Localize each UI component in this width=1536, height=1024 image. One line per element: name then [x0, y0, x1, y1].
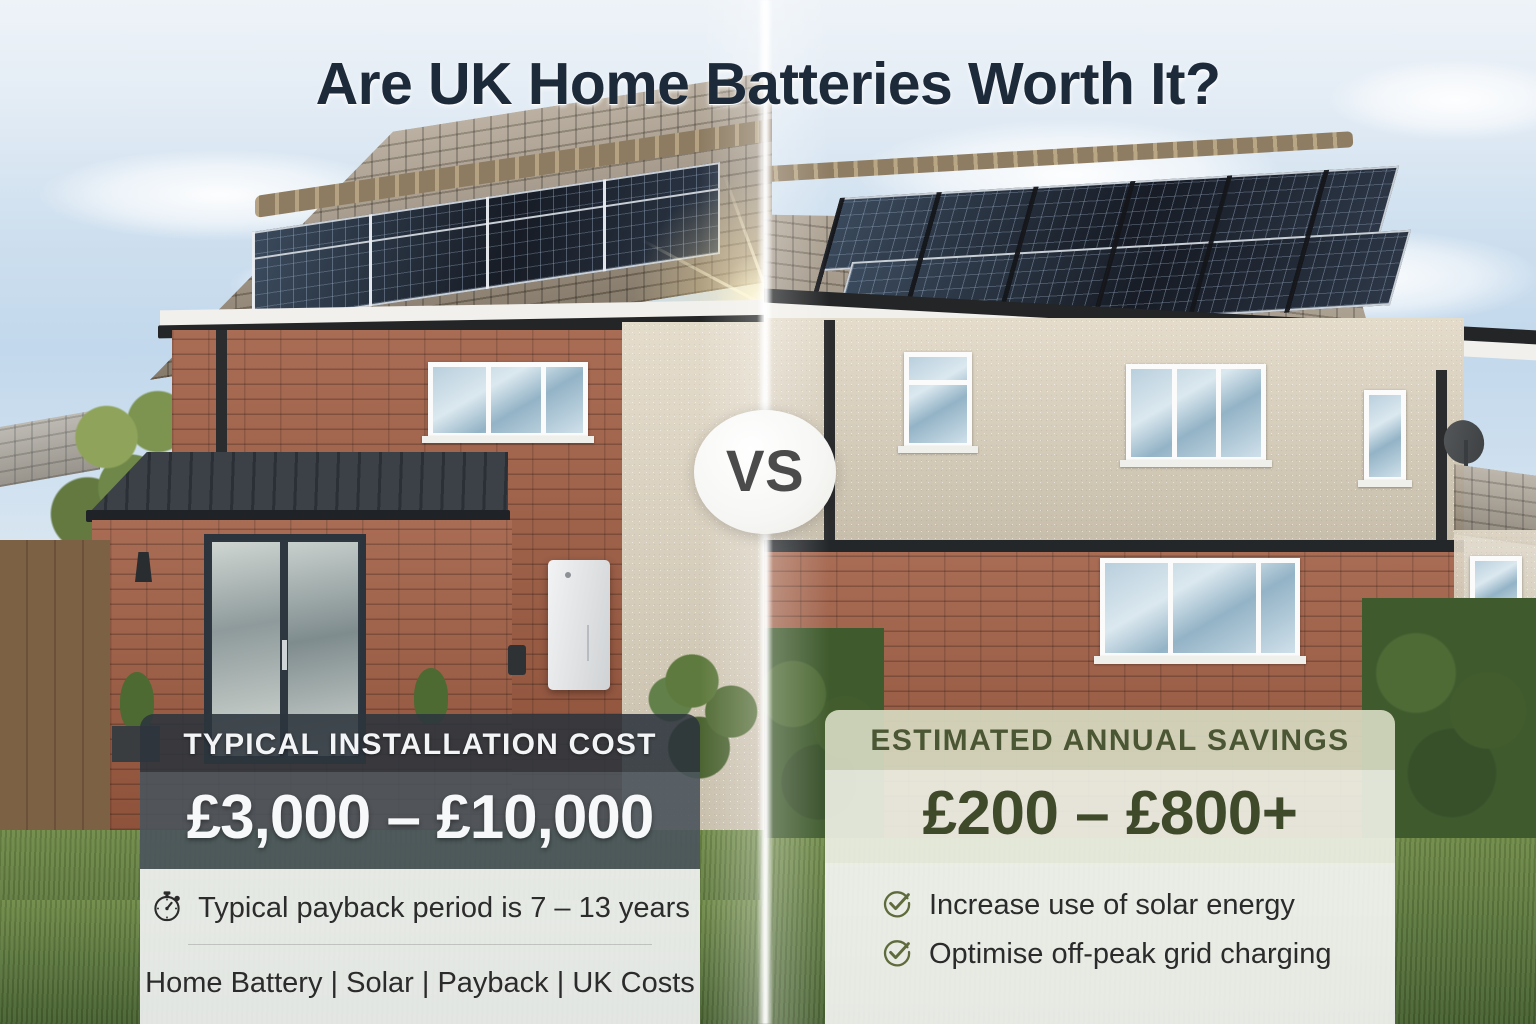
window-mullion	[486, 367, 491, 433]
page-title: Are UK Home Batteries Worth It?	[0, 50, 1536, 118]
upstairs-window	[428, 362, 588, 438]
installation-cost-header-label: TYPICAL INSTALLATION COST	[140, 728, 700, 762]
payback-note-text: Typical payback period is 7 – 13 years	[198, 892, 690, 925]
list-item: Optimise off-peak grid charging	[825, 930, 1395, 979]
window-transom	[909, 380, 967, 385]
installation-cost-value-band: £3,000 – £10,000	[140, 772, 700, 869]
benefit-text: Optimise off-peak grid charging	[929, 938, 1331, 971]
window-mullion	[1216, 369, 1221, 457]
home-battery-unit	[548, 560, 610, 690]
window-sill	[1358, 480, 1412, 487]
battery-seam	[587, 625, 589, 661]
window-sill	[1120, 460, 1272, 467]
annual-savings-value-band: £200 – £800+	[825, 770, 1395, 863]
check-circle-icon	[881, 936, 913, 973]
annual-savings-card: ESTIMATED ANNUAL SAVINGS £200 – £800+ In…	[825, 710, 1395, 1024]
dish-arm	[1464, 440, 1468, 466]
inverter-box	[508, 645, 526, 675]
topic-tags: Home Battery | Solar | Payback | UK Cost…	[140, 945, 700, 1024]
installation-cost-value: £3,000 – £10,000	[140, 782, 700, 853]
upstairs-window-narrow	[1364, 390, 1406, 482]
window-sill	[1094, 656, 1306, 664]
annual-savings-header-label: ESTIMATED ANNUAL SAVINGS	[825, 724, 1395, 758]
list-item: Increase use of solar energy	[825, 881, 1395, 930]
versus-badge: VS	[694, 410, 836, 534]
upper-wall-render	[764, 318, 1464, 548]
porch-roof	[88, 452, 508, 514]
upstairs-window-small	[904, 352, 972, 448]
check-circle-icon	[881, 887, 913, 924]
annual-savings-benefits: Increase use of solar energy Optimise of…	[825, 863, 1395, 1024]
payback-note: Typical payback period is 7 – 13 years	[140, 885, 700, 944]
installation-cost-card: TYPICAL INSTALLATION COST £3,000 – £10,0…	[140, 714, 700, 1024]
window-mullion	[1256, 563, 1261, 653]
window-mullion	[1172, 369, 1177, 457]
window-sill	[898, 446, 978, 453]
downpipe	[824, 320, 835, 550]
stopwatch-icon	[150, 889, 184, 928]
annual-savings-value: £200 – £800+	[825, 778, 1395, 849]
window-sill	[422, 436, 594, 443]
installation-cost-footer: Typical payback period is 7 – 13 years H…	[140, 869, 700, 1024]
upstairs-window-wide	[1126, 364, 1266, 462]
installation-cost-header: TYPICAL INSTALLATION COST	[140, 714, 700, 772]
versus-label: VS	[726, 443, 804, 501]
garden-fence	[0, 540, 110, 850]
door-handle	[282, 640, 287, 670]
window-mullion	[1168, 563, 1173, 653]
window-mullion	[541, 367, 546, 433]
benefit-text: Increase use of solar energy	[929, 889, 1295, 922]
infographic-canvas: VS Are UK Home Batteries Worth It? TYPIC…	[0, 0, 1536, 1024]
ground-floor-window	[1100, 558, 1300, 658]
battery-led	[565, 572, 571, 578]
annual-savings-header: ESTIMATED ANNUAL SAVINGS	[825, 710, 1395, 770]
